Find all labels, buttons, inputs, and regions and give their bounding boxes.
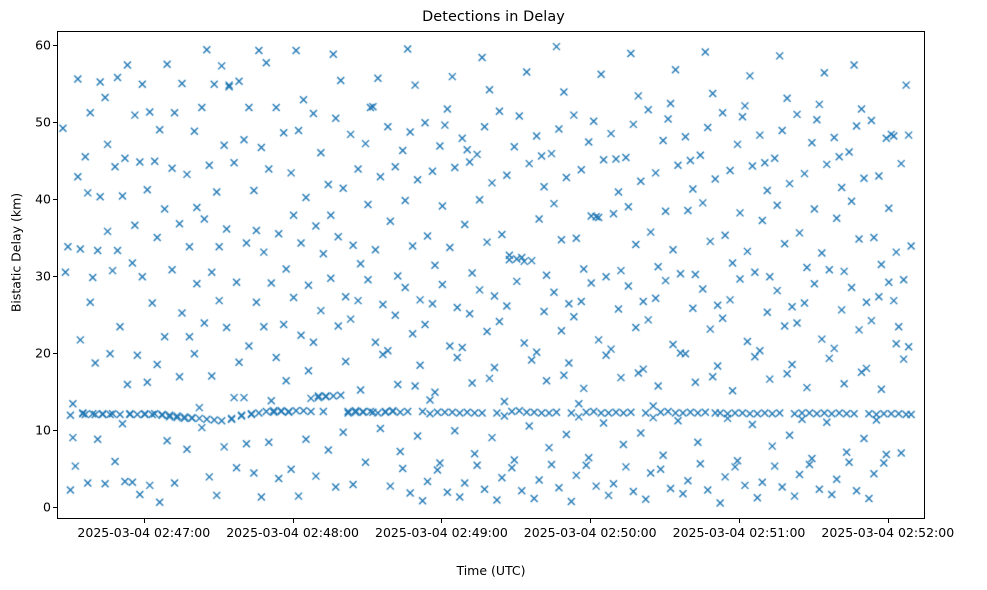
x-tick-mark <box>441 519 442 523</box>
chart-title: Detections in Delay <box>0 9 987 25</box>
x-tick-label: 2025-03-04 02:50:00 <box>524 525 657 540</box>
plot-axes <box>57 31 925 519</box>
y-tick-label: 40 <box>35 191 51 206</box>
y-tick-label: 60 <box>35 37 51 52</box>
y-tick-mark <box>53 353 57 354</box>
matplotlib-figure: Detections in Delay 2025-03-04 02:47:002… <box>0 0 987 590</box>
x-tick-label: 2025-03-04 02:51:00 <box>673 525 806 540</box>
y-tick-mark <box>53 507 57 508</box>
y-tick-label: 10 <box>35 422 51 437</box>
y-tick-label: 0 <box>43 499 51 514</box>
y-tick-mark <box>53 276 57 277</box>
y-tick-label: 50 <box>35 114 51 129</box>
y-tick-mark <box>53 122 57 123</box>
x-tick-mark <box>293 519 294 523</box>
y-tick-label: 30 <box>35 268 51 283</box>
x-tick-label: 2025-03-04 02:52:00 <box>821 525 954 540</box>
scatter-points-layer <box>58 32 926 520</box>
y-tick-mark <box>53 430 57 431</box>
y-axis-label: Bistatic Delay (km) <box>9 133 24 373</box>
x-tick-label: 2025-03-04 02:48:00 <box>226 525 359 540</box>
x-tick-mark <box>590 519 591 523</box>
y-tick-label: 20 <box>35 345 51 360</box>
x-tick-mark <box>144 519 145 523</box>
x-tick-label: 2025-03-04 02:47:00 <box>77 525 210 540</box>
y-tick-mark <box>53 45 57 46</box>
x-tick-mark <box>739 519 740 523</box>
x-tick-mark <box>888 519 889 523</box>
y-tick-mark <box>53 199 57 200</box>
x-tick-label: 2025-03-04 02:49:00 <box>375 525 508 540</box>
x-axis-ticks: 2025-03-04 02:47:002025-03-04 02:48:0020… <box>57 519 925 559</box>
x-axis-label: Time (UTC) <box>57 563 925 578</box>
